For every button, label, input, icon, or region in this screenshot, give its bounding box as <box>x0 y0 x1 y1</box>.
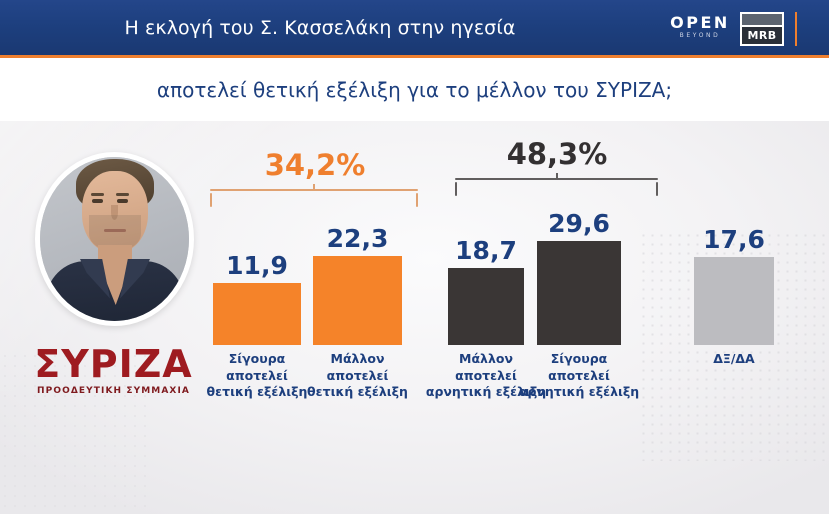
avatar-eye-right <box>117 199 128 203</box>
bar-group: 29,6 Σίγουρα αποτελεί αρνητική εξέλιξη <box>537 121 621 514</box>
open-logo-word: ΟΡΕΝ <box>664 14 736 31</box>
bar-category-label: Μάλλον αποτελεί θετική εξέλιξη <box>307 351 408 401</box>
bar-rect <box>213 283 301 345</box>
bar-rect <box>537 241 621 345</box>
bar-group: 17,6 ΔΞ/ΔΑ <box>694 121 774 514</box>
bar-category-label: ΔΞ/ΔΑ <box>713 351 755 368</box>
bar-value-label: 22,3 <box>327 224 389 253</box>
bracket-side-right <box>656 182 658 196</box>
bracket-side-left <box>210 193 212 207</box>
subtitle-text: αποτελεί θετική εξέλιξη για το μέλλον το… <box>157 78 672 102</box>
bracket-side-right <box>416 193 418 207</box>
mrb-logo: MRB <box>740 12 784 46</box>
bar-rect <box>448 268 524 345</box>
bar-value-label: 11,9 <box>226 251 288 280</box>
bar-category-line-1: ΔΞ/ΔΑ <box>713 351 755 368</box>
avatar <box>35 152 194 326</box>
avatar-eyebrow-right <box>116 193 129 196</box>
page-title: Η εκλογή του Σ. Κασσελάκη στην ηγεσία <box>0 0 640 55</box>
bar-category-label: Σίγουρα αποτελεί αρνητική εξέλιξη <box>519 351 639 401</box>
avatar-mouth <box>104 229 126 232</box>
bar-category-line-2: αποτελεί <box>307 368 408 385</box>
subtitle-band: αποτελεί θετική εξέλιξη για το μέλλον το… <box>0 58 829 121</box>
bar-value-label: 29,6 <box>548 209 610 238</box>
open-beyond-logo: ΟΡΕΝ BEYOND <box>664 14 736 44</box>
bar-group: 22,3 Μάλλον αποτελεί θετική εξέλιξη <box>313 121 402 514</box>
bar-category-line-1: Σίγουρα <box>519 351 639 368</box>
bar-category-line-2: αποτελεί <box>207 368 308 385</box>
bar-rect <box>313 256 402 345</box>
bar-category-line-2: αποτελεί <box>519 368 639 385</box>
bar-category-line-1: Σίγουρα <box>207 351 308 368</box>
bar-rect <box>694 257 774 345</box>
bar-category-line-1: Μάλλον <box>307 351 408 368</box>
bar-value-label: 18,7 <box>455 236 517 265</box>
chart-stage: ΣΥΡΙΖΑ ΠΡΟΟΔΕΥΤΙΚΗ ΣΥΜΜΑΧΙΑ 34,2% 48,3% … <box>0 121 829 514</box>
bar-value-label: 17,6 <box>703 225 765 254</box>
bar-group: 11,9 Σίγουρα αποτελεί θετική εξέλιξη <box>213 121 301 514</box>
syriza-logo-subtitle: ΠΡΟΟΔΕΥΤΙΚΗ ΣΥΜΜΑΧΙΑ <box>26 385 201 398</box>
avatar-eye-left <box>92 199 103 203</box>
bar-category-line-3: αρνητική εξέλιξη <box>519 384 639 401</box>
syriza-logo-name: ΣΥΡΙΖΑ <box>26 343 201 385</box>
syriza-logo: ΣΥΡΙΖΑ ΠΡΟΟΔΕΥΤΙΚΗ ΣΥΜΜΑΧΙΑ <box>26 343 201 405</box>
bar-category-label: Σίγουρα αποτελεί θετική εξέλιξη <box>207 351 308 401</box>
mrb-logo-bar <box>742 14 782 25</box>
avatar-eyebrow-left <box>91 193 104 196</box>
bar-group: 18,7 Μάλλον αποτελεί αρνητική εξέλιξη <box>448 121 524 514</box>
open-logo-tagline: BEYOND <box>664 31 736 40</box>
mrb-logo-text: MRB <box>742 27 782 44</box>
bar-category-line-3: θετική εξέλιξη <box>307 384 408 401</box>
header-bar: Η εκλογή του Σ. Κασσελάκη στην ηγεσία ΟΡ… <box>0 0 829 58</box>
bar-category-line-3: θετική εξέλιξη <box>207 384 308 401</box>
header-divider <box>795 12 797 46</box>
